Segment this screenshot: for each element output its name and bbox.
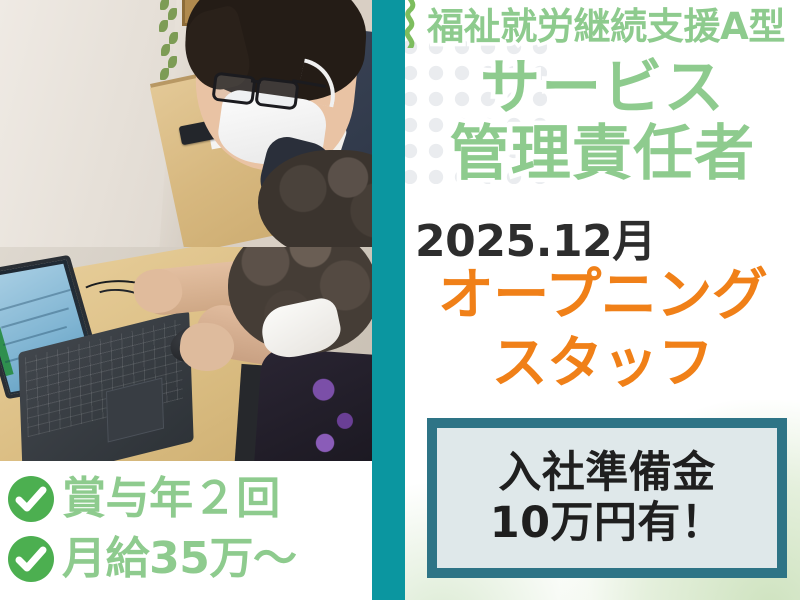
benefit-item-salary: 月給35万〜 — [6, 529, 372, 589]
benefit-item-bonus: 賞与年２回 — [6, 469, 372, 529]
opening-staff-line-1: オープニング — [405, 268, 800, 324]
signing-bonus-line-1: 入社準備金 — [498, 449, 715, 497]
opening-staff-line-2: スタッフ — [405, 336, 800, 392]
photo-staff-member-at-desk — [0, 0, 372, 247]
page-kicker: 福祉就労継続支援A型 — [411, 8, 800, 45]
signing-bonus-line-2: 10万円有！ — [490, 499, 724, 547]
job-ad-poster: 福祉就労継続支援A型 サービス 管理責任者 2025.12月 オープニング スタ… — [0, 0, 800, 600]
opening-date: 2025.12月 — [415, 205, 656, 269]
page-title-line-2: 管理責任者 — [405, 124, 800, 184]
photo-glasses-left-lens — [211, 72, 256, 106]
benefit-label: 賞与年２回 — [62, 477, 280, 521]
teal-vertical-divider — [372, 0, 405, 600]
photo-collage — [0, 0, 372, 461]
check-circle-icon — [6, 534, 56, 584]
check-circle-icon — [6, 474, 56, 524]
photo-clothing-pattern — [295, 364, 372, 461]
page-title-line-1: サービス — [405, 58, 800, 118]
signing-bonus-inner: 入社準備金 10万円有！ — [437, 428, 777, 568]
photo-user-using-laptop — [0, 247, 372, 461]
benefits-list: 賞与年２回 月給35万〜 — [0, 461, 372, 600]
content-panel: 福祉就労継続支援A型 サービス 管理責任者 2025.12月 オープニング スタ… — [405, 0, 800, 600]
signing-bonus-box: 入社準備金 10万円有！ — [427, 418, 787, 578]
benefit-label: 月給35万〜 — [62, 537, 297, 581]
